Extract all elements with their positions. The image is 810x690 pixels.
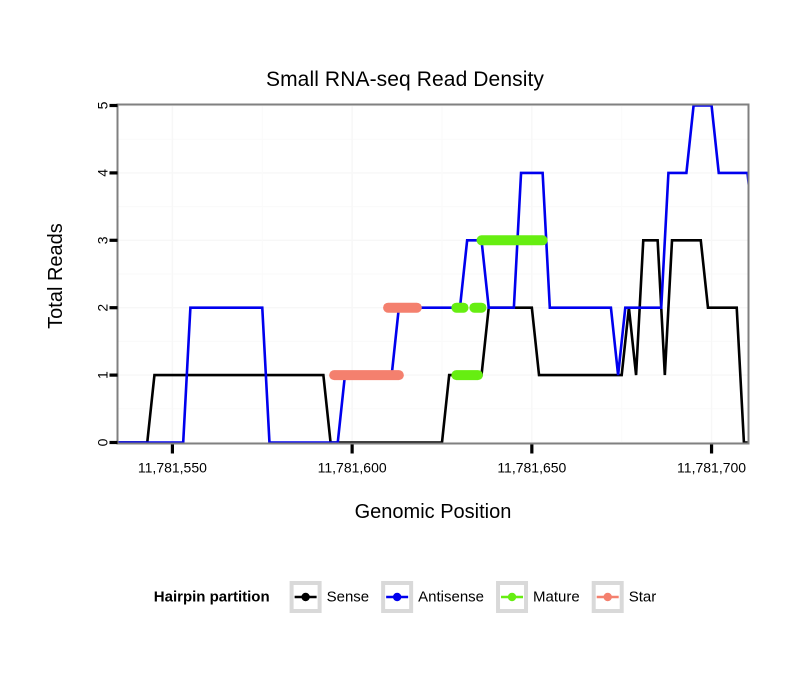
y-tick-label: 4 bbox=[95, 169, 111, 177]
legend-title: Hairpin partition bbox=[154, 589, 270, 606]
x-tick-label: 11,781,650 bbox=[497, 460, 566, 476]
x-tick-labels: 11,781,55011,781,60011,781,65011,781,700 bbox=[138, 460, 746, 476]
legend-item-mature[interactable]: Mature bbox=[498, 583, 580, 611]
legend-item-sense[interactable]: Sense bbox=[292, 583, 370, 611]
chart-legend: Hairpin partitionSenseAntisenseMatureSta… bbox=[154, 583, 656, 611]
y-axis-title: Total Reads bbox=[45, 223, 67, 329]
legend-label: Mature bbox=[533, 589, 580, 606]
y-tick-labels: 012345 bbox=[95, 101, 111, 446]
chart-page: Small RNA-seq Read Density 012345 11,781… bbox=[0, 0, 810, 690]
legend-label: Star bbox=[629, 589, 657, 606]
grid-layer bbox=[119, 106, 748, 443]
legend-item-star[interactable]: Star bbox=[594, 583, 657, 611]
y-tick-label: 3 bbox=[95, 236, 111, 244]
y-tick-label: 5 bbox=[95, 101, 111, 109]
chart-plot: 012345 11,781,55011,781,60011,781,65011,… bbox=[0, 0, 810, 690]
legend-item-antisense[interactable]: Antisense bbox=[383, 583, 484, 611]
x-tick-label: 11,781,600 bbox=[318, 460, 387, 476]
y-tick-label: 0 bbox=[95, 438, 111, 446]
x-axis-title: Genomic Position bbox=[355, 501, 512, 523]
x-tick-label: 11,781,700 bbox=[677, 460, 746, 476]
y-tick-label: 2 bbox=[95, 304, 111, 312]
legend-label: Sense bbox=[327, 589, 370, 606]
x-tick-label: 11,781,550 bbox=[138, 460, 207, 476]
y-tick-label: 1 bbox=[95, 371, 111, 379]
legend-label: Antisense bbox=[418, 589, 484, 606]
